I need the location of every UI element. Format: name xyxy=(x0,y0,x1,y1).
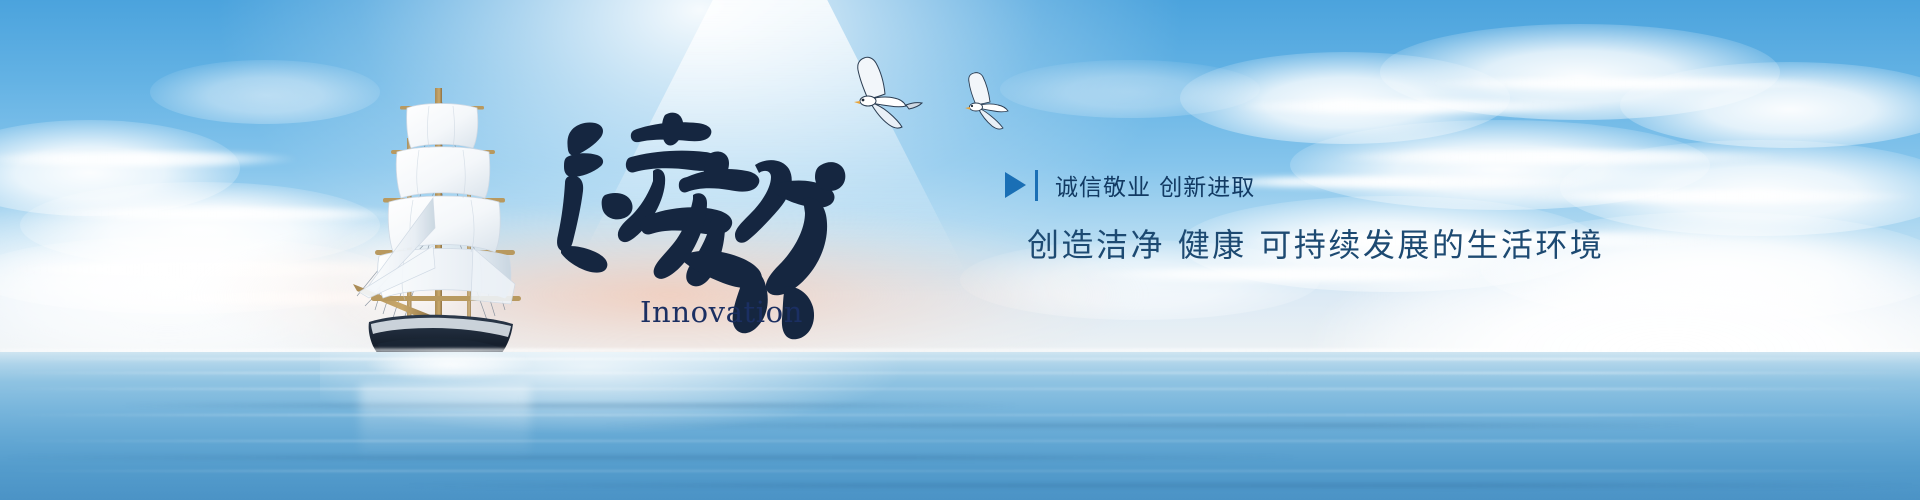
cloud-streak xyxy=(1420,78,1840,89)
wave-shadow xyxy=(0,456,1300,459)
wave-highlight xyxy=(0,388,1920,390)
cloud-streak xyxy=(1230,100,1610,113)
hero-banner: Innovation 诚信敬业 创新进取 创造洁净 健康 可持续发展的生活环境 xyxy=(0,0,1920,500)
wave-highlight xyxy=(0,470,1920,472)
seagull-large-icon xyxy=(810,52,930,142)
wave-shadow xyxy=(120,404,1020,407)
vertical-bar-divider-icon xyxy=(1035,170,1038,201)
ship-reflection xyxy=(360,385,530,460)
tagline-row-primary: 诚信敬业 创新进取 xyxy=(1005,168,1255,202)
wave-highlight xyxy=(0,358,1920,360)
wave-highlight xyxy=(0,440,1920,442)
play-triangle-icon xyxy=(1005,172,1026,198)
tagline-block: 诚信敬业 创新进取 创造洁净 健康 可持续发展的生活环境 xyxy=(1005,168,1255,202)
wave-shadow xyxy=(600,424,1700,427)
tagline-line-1: 诚信敬业 创新进取 xyxy=(1055,168,1255,202)
wave-highlight xyxy=(0,372,1920,374)
cloud-streak xyxy=(1520,190,1920,203)
wave-shadow xyxy=(400,484,1920,487)
tall-sailing-ship xyxy=(345,78,535,378)
innovation-subtitle: Innovation xyxy=(640,295,803,329)
seagull-small-icon xyxy=(930,68,1026,140)
wave-highlight xyxy=(0,414,1920,416)
cloud-streak xyxy=(1330,150,1790,164)
tagline-line-2: 创造洁净 健康 可持续发展的生活环境 xyxy=(1027,220,1604,266)
ocean-water xyxy=(0,352,1920,500)
